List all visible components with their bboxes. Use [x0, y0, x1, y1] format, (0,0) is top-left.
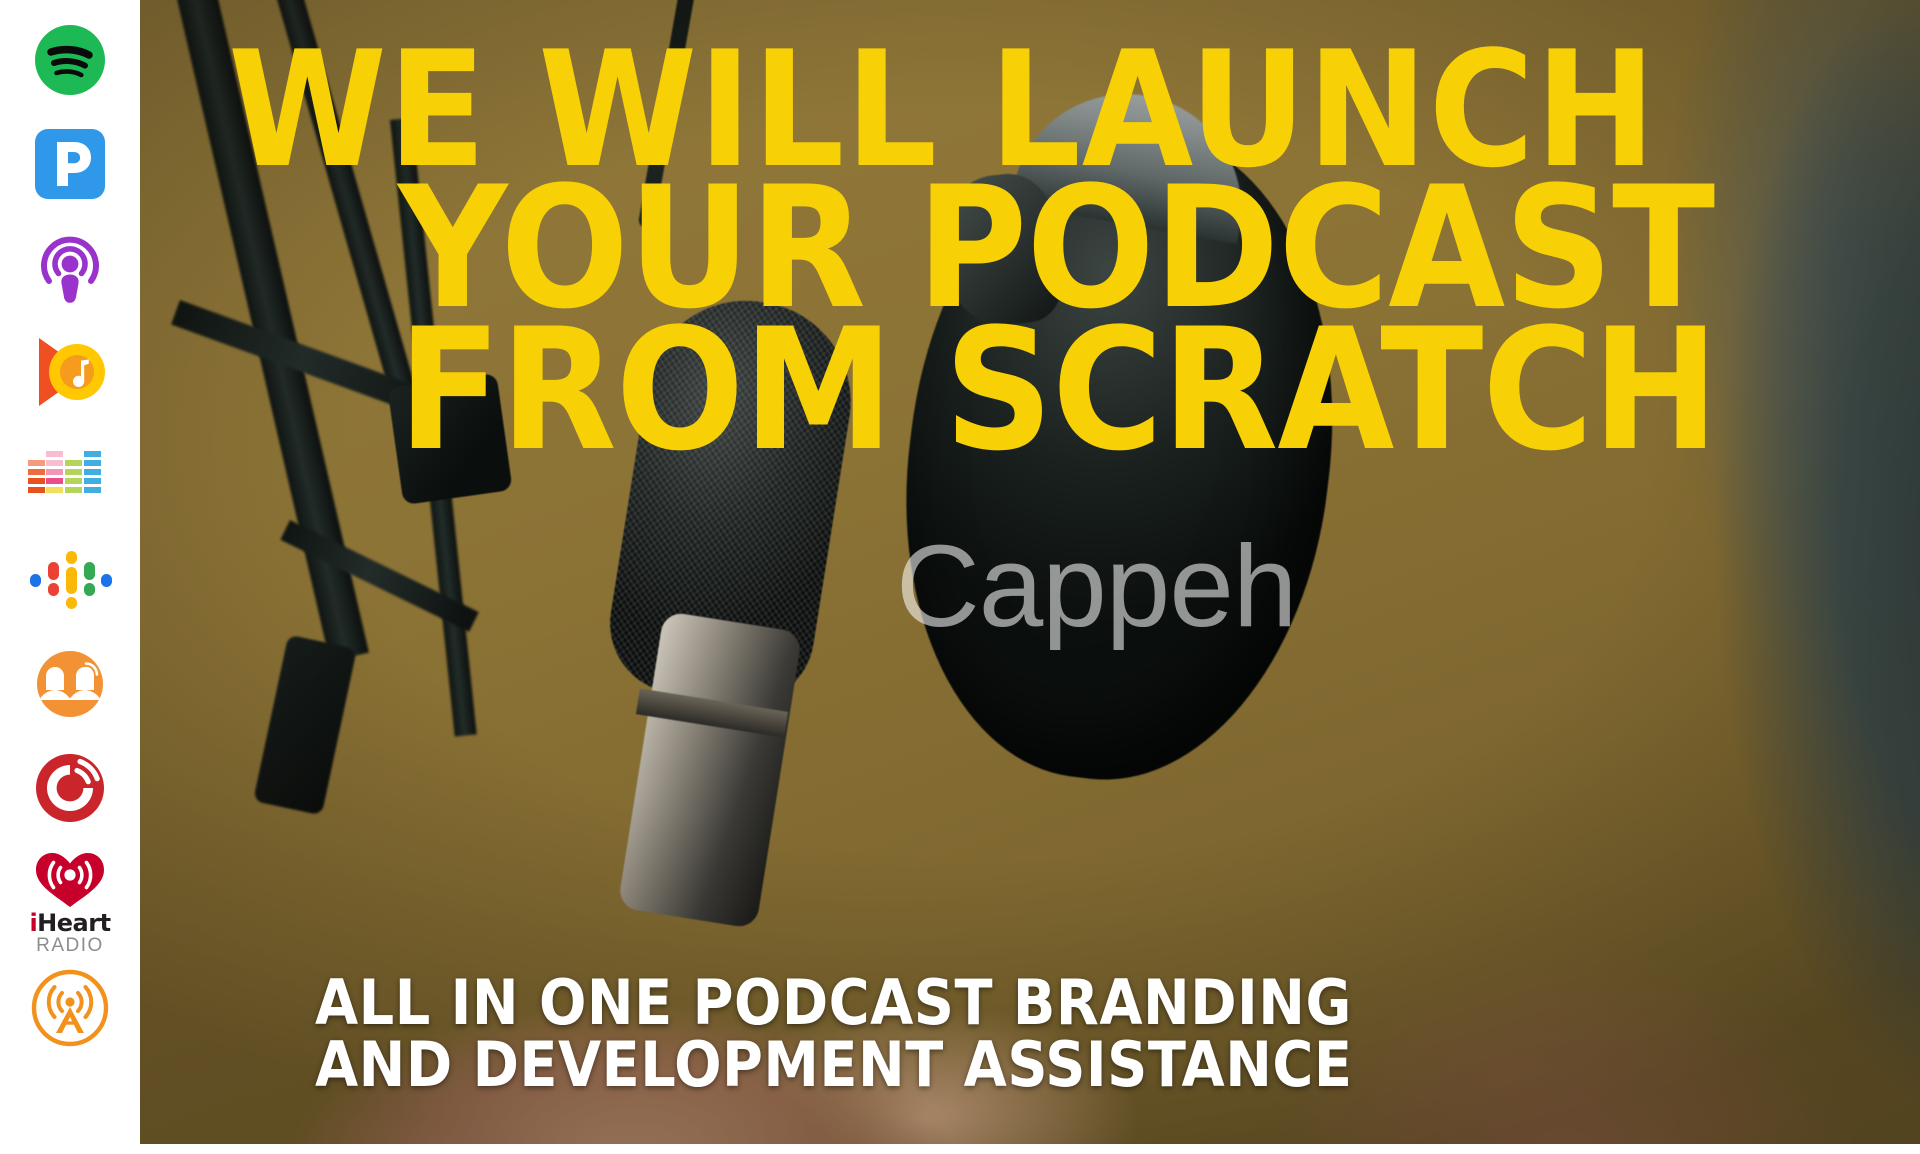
- google-podcasts-icon[interactable]: [24, 534, 116, 626]
- pandora-icon[interactable]: [24, 118, 116, 210]
- iheart-wordmark-prefix: i: [29, 909, 37, 937]
- deezer-icon[interactable]: [24, 430, 116, 522]
- radio-tower-icon[interactable]: [24, 962, 116, 1054]
- google-play-music-icon[interactable]: [24, 326, 116, 418]
- boom-clamp: [387, 373, 512, 505]
- platform-rail: iHeart RADIO: [0, 0, 140, 1154]
- podbean-icon[interactable]: [24, 638, 116, 730]
- iheart-wordmark-main: Heart: [37, 909, 110, 937]
- poster-stage: iHeart RADIO: [0, 0, 1920, 1154]
- bottom-edge: [140, 1144, 1920, 1154]
- spotify-icon[interactable]: [24, 14, 116, 106]
- iheart-wordmark-sub: RADIO: [36, 936, 104, 955]
- poster-image: WE WILL LAUNCH YOUR PODCAST FROM SCRATCH…: [140, 0, 1920, 1154]
- iheart-wordmark: iHeart: [29, 911, 110, 935]
- iheartradio-icon[interactable]: iHeart RADIO: [24, 846, 116, 956]
- pocket-casts-icon[interactable]: [24, 742, 116, 834]
- apple-podcasts-icon[interactable]: [24, 222, 116, 314]
